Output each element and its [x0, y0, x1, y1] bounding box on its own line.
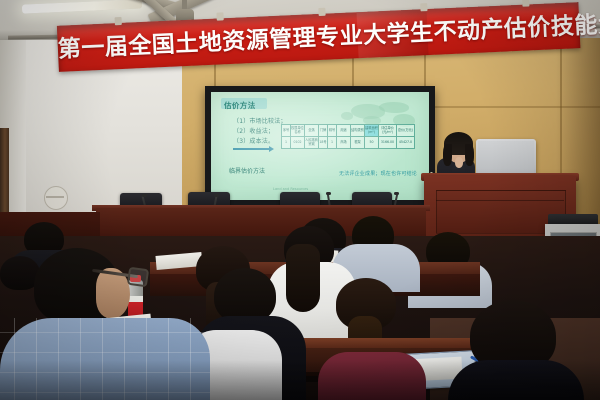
microphone-head-icon: [326, 192, 331, 195]
wall-fixture-bar: [46, 196, 64, 198]
shirt-pattern: [124, 318, 125, 400]
presenter-hand: [455, 157, 463, 168]
audience-body-checked-shirt: [0, 318, 210, 400]
banner-clip: [318, 8, 325, 16]
podium-seam: [436, 200, 564, 201]
microphone-head-icon: [394, 192, 399, 195]
shirt-pattern: [58, 318, 59, 400]
conference-hall-photo: 第一届全国土地资源管理专业大学生不动产估价技能大赛 估价方法 （1）市场比较法；…: [0, 0, 600, 400]
banner-clip: [522, 0, 529, 7]
shirt-pattern: [80, 318, 81, 400]
bottle-label-band: [128, 296, 143, 302]
audience-body-maroon: [318, 352, 426, 400]
presenter-hair: [465, 144, 474, 166]
microphone-head-icon: [142, 194, 147, 197]
shirt-pattern: [0, 372, 210, 373]
shirt-pattern: [36, 318, 37, 400]
microphone-head-icon: [214, 194, 219, 197]
shirt-pattern: [0, 392, 210, 393]
eyeglasses-icon: [127, 267, 149, 288]
apple-logo-icon: [500, 152, 511, 165]
shirt-pattern: [0, 352, 210, 353]
banner-clip: [115, 17, 122, 25]
banner-clip: [420, 3, 427, 11]
projection-screen: 估价方法 （1）市场比较法； （2）收益法； （3）成本法。 临界估价方法 无法…: [211, 92, 429, 200]
audience-long-hair: [286, 244, 320, 312]
shirt-pattern: [102, 318, 103, 400]
shirt-pattern: [0, 332, 210, 333]
wall-fixture-icon: [44, 186, 68, 210]
projector-glow: [211, 92, 429, 200]
banner-clip: [216, 12, 223, 20]
presenter-hair: [443, 144, 452, 166]
shirt-pattern: [146, 318, 147, 400]
shirt-pattern: [168, 318, 169, 400]
shirt-pattern: [190, 318, 191, 400]
audience-body-foreground: [448, 360, 584, 400]
shirt-pattern: [14, 318, 15, 400]
